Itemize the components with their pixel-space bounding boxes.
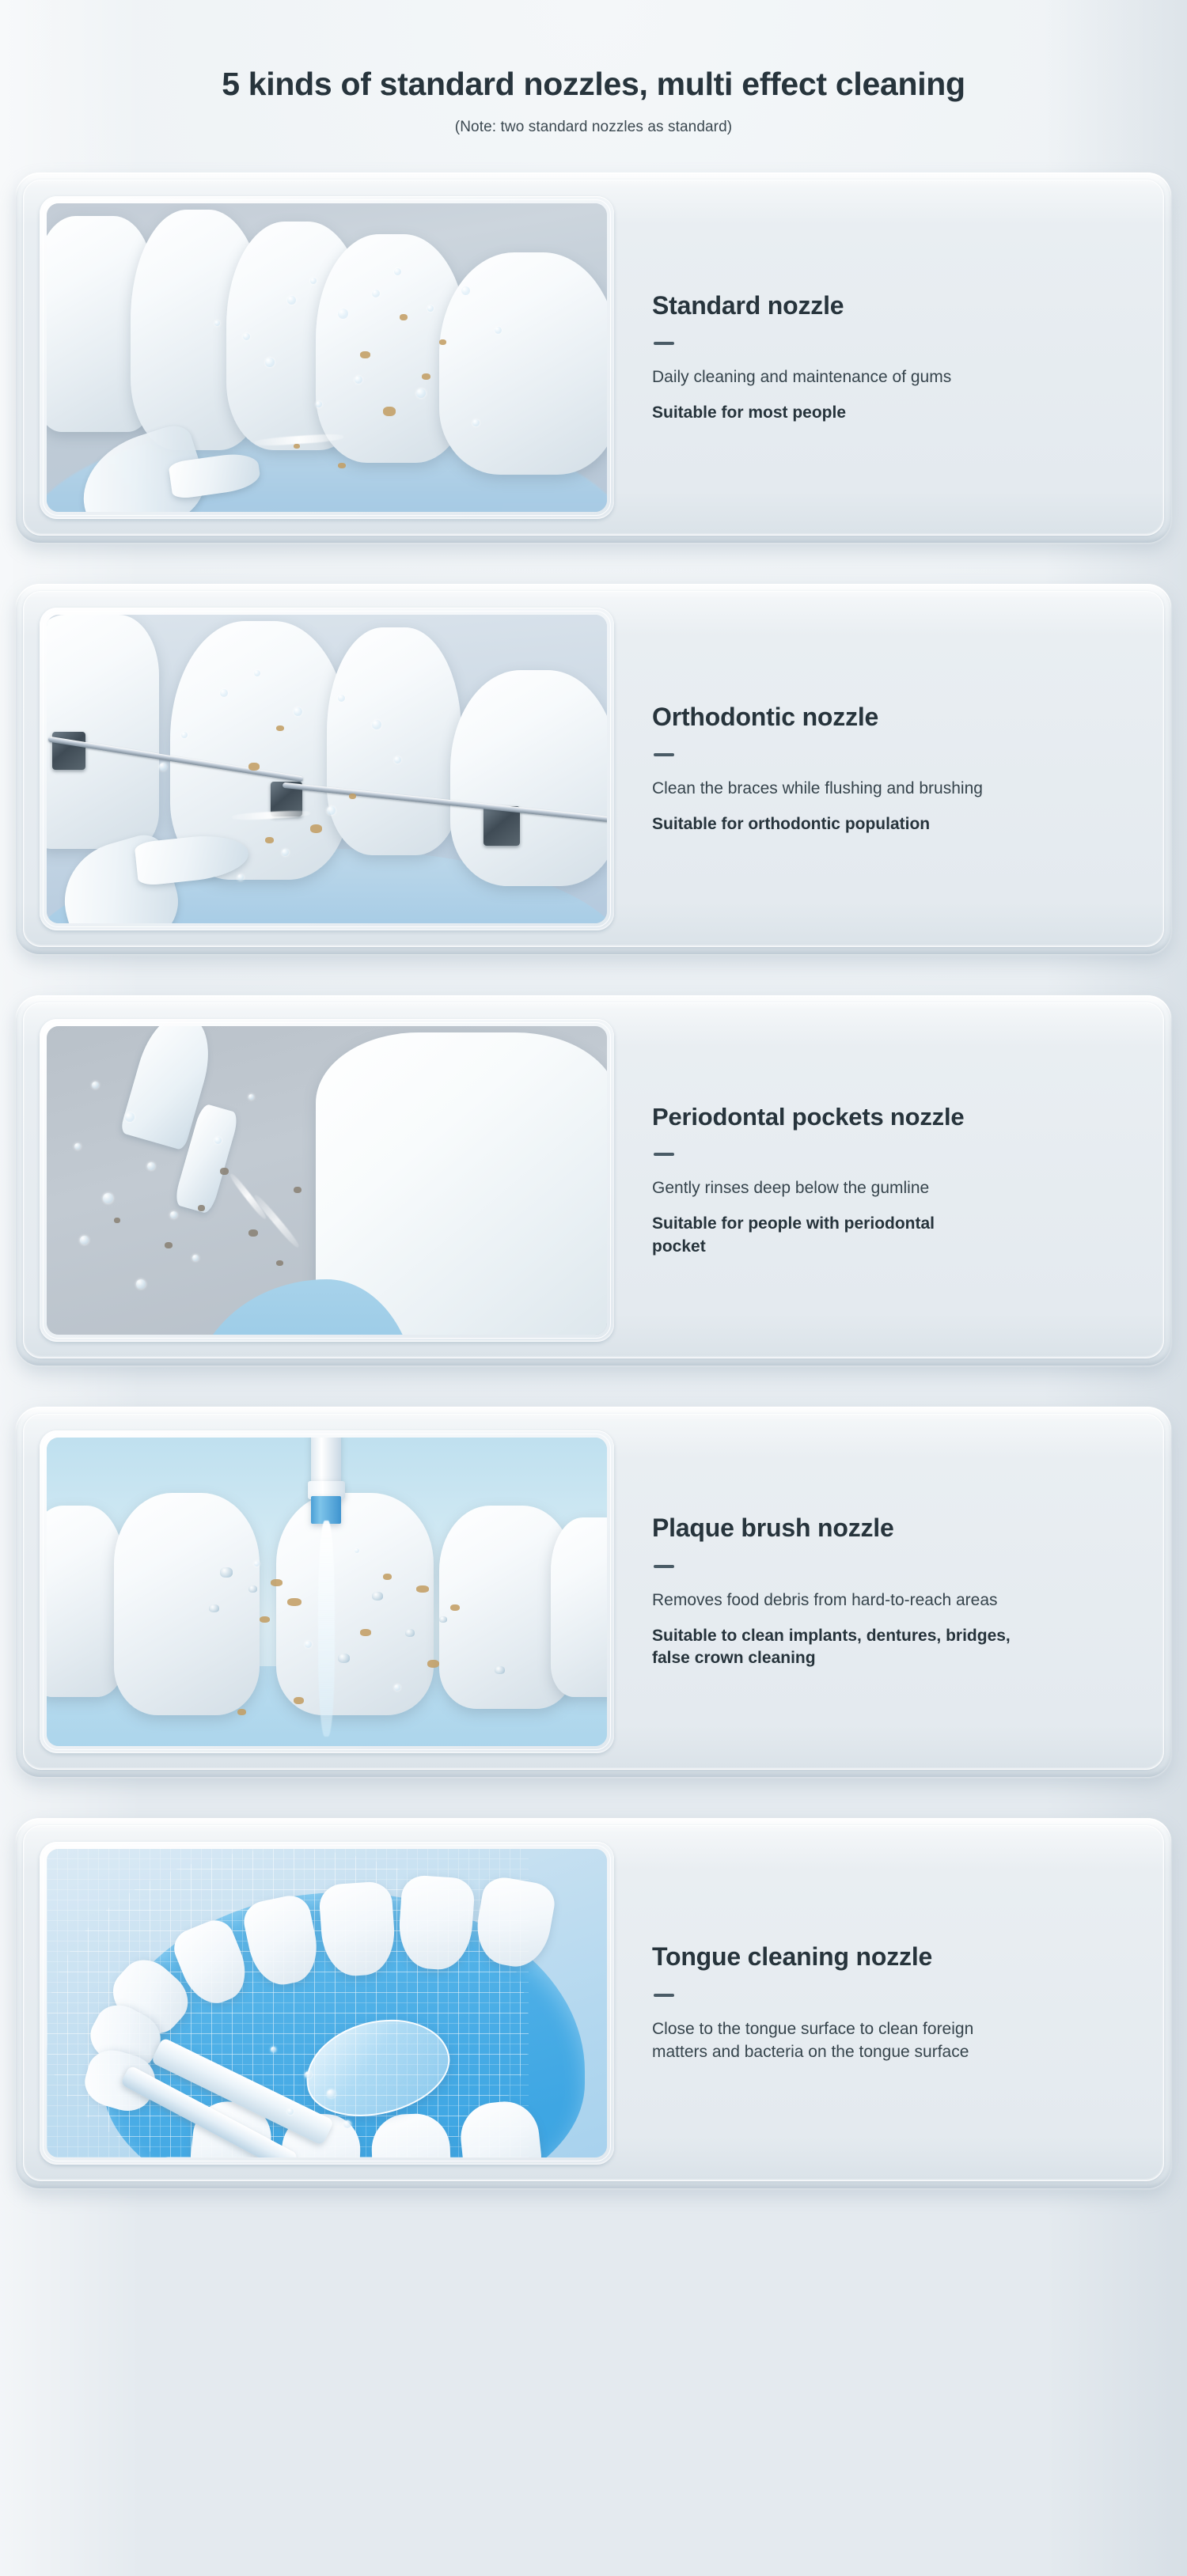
nozzle-card-list: Standard nozzle Daily cleaning and maint… <box>0 172 1187 2188</box>
nozzle-description: Gently rinses deep below the gumline <box>652 1176 992 1200</box>
nozzle-suitable-note: Suitable for orthodontic population <box>652 813 1048 836</box>
title-rule-icon <box>654 1153 674 1156</box>
nozzle-description: Close to the tongue surface to clean for… <box>652 2017 1016 2065</box>
title-rule-icon <box>654 753 674 756</box>
nozzle-illustration-standard <box>47 203 607 512</box>
media-frame-plaque-brush <box>40 1430 614 1753</box>
page-header: 5 kinds of standard nozzles, multi effec… <box>0 0 1187 136</box>
page-subtitle-note: (Note: two standard nozzles as standard) <box>0 119 1187 136</box>
title-rule-icon <box>654 1565 674 1568</box>
nozzle-illustration-tongue-cleaning <box>47 1849 607 2157</box>
nozzle-description: Daily cleaning and maintenance of gums <box>652 366 1016 389</box>
nozzle-illustration-periodontal <box>47 1026 607 1335</box>
nozzle-card-standard[interactable]: Standard nozzle Daily cleaning and maint… <box>16 172 1171 543</box>
nozzle-suitable-note: Suitable to clean implants, dentures, br… <box>652 1625 1048 1670</box>
nozzle-suitable-note: Suitable for people with periodontal poc… <box>652 1213 992 1258</box>
media-frame-standard <box>40 196 614 519</box>
nozzle-title: Plaque brush nozzle <box>652 1513 1127 1543</box>
nozzle-title: Orthodontic nozzle <box>652 703 1127 732</box>
title-rule-icon <box>654 342 674 345</box>
nozzle-title: Periodontal pockets nozzle <box>652 1103 1127 1131</box>
nozzle-card-tongue-cleaning[interactable]: Tongue cleaning nozzle Close to the tong… <box>16 1818 1171 2188</box>
nozzle-card-plaque-brush[interactable]: Plaque brush nozzle Removes food debris … <box>16 1407 1171 1777</box>
nozzle-illustration-orthodontic <box>47 615 607 923</box>
title-rule-icon <box>654 1994 674 1997</box>
nozzle-description: Clean the braces while flushing and brus… <box>652 777 1016 801</box>
nozzle-suitable-note: Suitable for most people <box>652 402 1048 425</box>
nozzle-illustration-plaque-brush <box>47 1438 607 1746</box>
media-frame-periodontal <box>40 1019 614 1342</box>
nozzle-card-periodontal[interactable]: Periodontal pockets nozzle Gently rinses… <box>16 995 1171 1366</box>
nozzle-title: Tongue cleaning nozzle <box>652 1942 1127 1972</box>
nozzle-description: Removes food debris from hard-to-reach a… <box>652 1589 1016 1612</box>
media-frame-tongue-cleaning <box>40 1842 614 2165</box>
nozzle-title: Standard nozzle <box>652 291 1127 320</box>
nozzle-card-orthodontic[interactable]: Orthodontic nozzle Clean the braces whil… <box>16 584 1171 954</box>
page-title: 5 kinds of standard nozzles, multi effec… <box>0 66 1187 102</box>
media-frame-orthodontic <box>40 608 614 930</box>
